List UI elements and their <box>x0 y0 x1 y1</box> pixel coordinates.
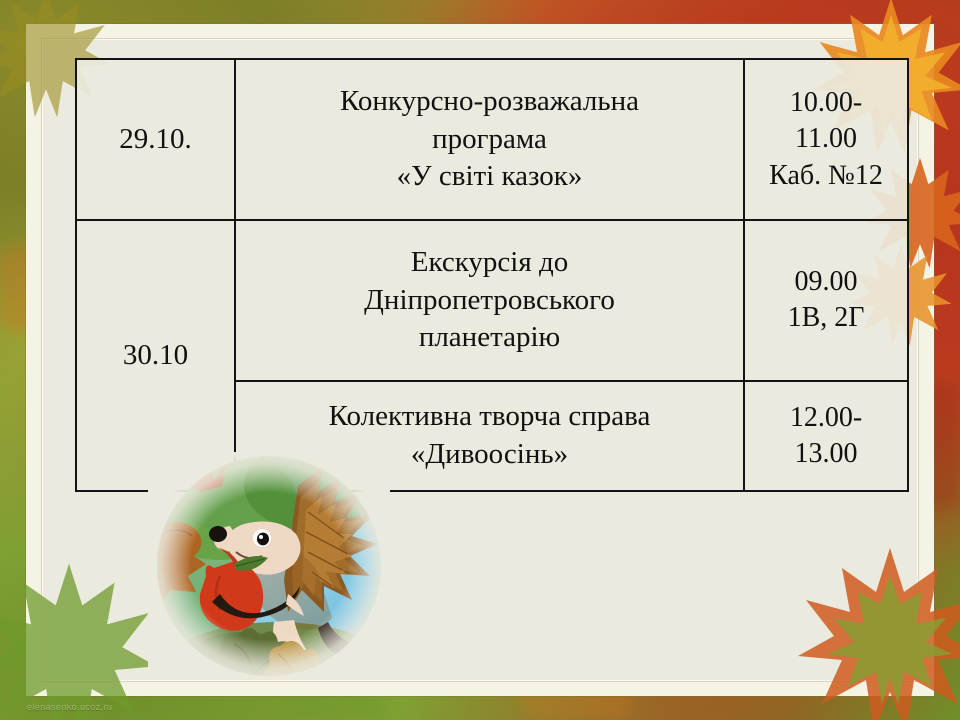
event-line: Дніпропетровського <box>242 282 737 320</box>
event-line: Колективна творча справа <box>242 398 737 436</box>
cell-date-2: 30.10 <box>76 220 235 491</box>
event-line: Конкурсно-розважальна <box>242 83 737 121</box>
time-line: 10.00- <box>751 85 901 121</box>
cell-event-3: Колективна творча справа «Дивоосінь» <box>235 381 744 491</box>
table-row: 29.10. Конкурсно-розважальна програма «У… <box>76 59 908 220</box>
time-line: 09.00 <box>751 264 901 300</box>
event-line: програма <box>242 121 737 159</box>
event-line: планетарію <box>242 319 737 357</box>
time-line: 11.00 <box>751 121 901 157</box>
watermark-text: elenasenko.ucoz.ru <box>27 702 112 712</box>
schedule-table-wrapper: 29.10. Конкурсно-розважальна програма «У… <box>75 58 907 492</box>
slide-root: 29.10. Конкурсно-розважальна програма «У… <box>0 0 960 720</box>
table-row: 30.10 Екскурсія до Дніпропетровського пл… <box>76 220 908 381</box>
event-line: «Дивоосінь» <box>242 436 737 474</box>
schedule-table: 29.10. Конкурсно-розважальна програма «У… <box>75 58 909 492</box>
group-line: 1В, 2Г <box>751 300 901 336</box>
time-line: 13.00 <box>751 436 901 472</box>
cell-event-2: Екскурсія до Дніпропетровського планетар… <box>235 220 744 381</box>
room-line: Каб. №12 <box>751 158 901 194</box>
cell-time-1: 10.00- 11.00 Каб. №12 <box>744 59 908 220</box>
event-line: «У світі казок» <box>242 158 737 196</box>
time-line: 12.00- <box>751 400 901 436</box>
event-line: Екскурсія до <box>242 244 737 282</box>
cell-time-2: 09.00 1В, 2Г <box>744 220 908 381</box>
cell-time-3: 12.00- 13.00 <box>744 381 908 491</box>
cell-date-1: 29.10. <box>76 59 235 220</box>
cell-event-1: Конкурсно-розважальна програма «У світі … <box>235 59 744 220</box>
